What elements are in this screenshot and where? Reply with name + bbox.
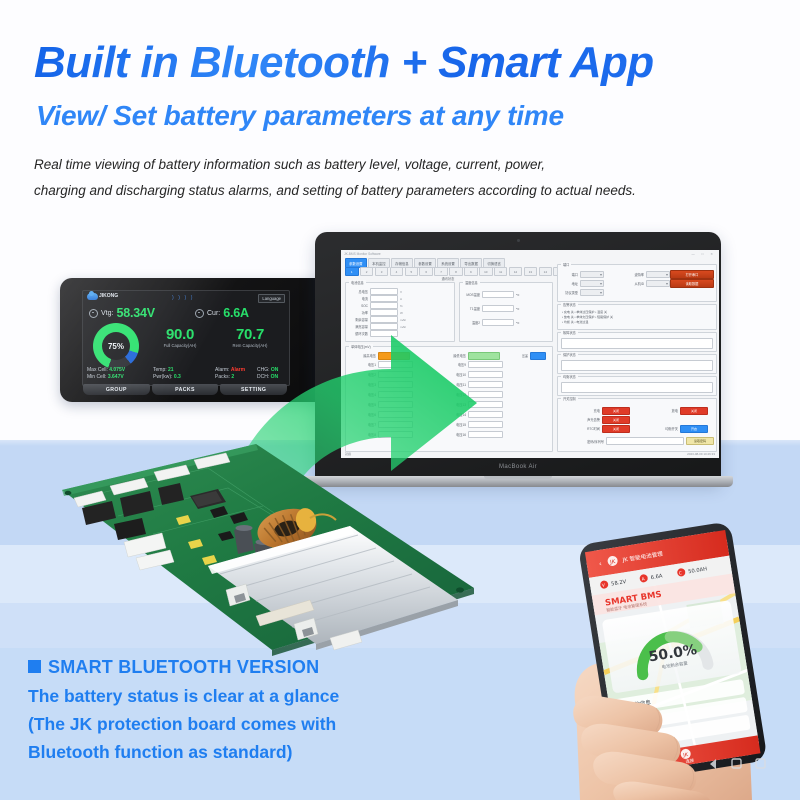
pack-button[interactable]: 9 — [464, 267, 478, 276]
field-unit: ℃ — [516, 307, 519, 311]
footer-line-1: The battery status is clear at a glance — [28, 686, 339, 707]
poster-root: Built in Bluetooth + Smart App View/ Set… — [0, 0, 800, 800]
window-controls[interactable]: — □ ✕ — [691, 252, 716, 256]
panel-control-title: 开关控制 — [561, 396, 578, 401]
pack-button[interactable]: 11 — [494, 267, 508, 276]
pack-button[interactable]: 13 — [524, 267, 538, 276]
charge-toggle[interactable]: 关闭 — [602, 407, 630, 415]
alarm-line: • 放电 关 • 单体欠压保护 • 短路保护 关 — [562, 315, 613, 319]
field-label: MOS温度 — [464, 292, 480, 297]
pack-button[interactable]: 6 — [419, 267, 433, 276]
panel-protect-title: 保护状态 — [561, 352, 578, 357]
balance-textarea[interactable] — [561, 382, 713, 393]
password-input[interactable] — [606, 437, 684, 445]
protocol-select[interactable] — [580, 289, 604, 296]
control-label: 放电 — [662, 408, 678, 413]
read-data-button[interactable]: 读取数据 — [670, 279, 714, 288]
field-unit: % — [400, 304, 403, 308]
panel-fault-title: 故障状态 — [561, 330, 578, 335]
pack-button[interactable]: 7 — [434, 267, 448, 276]
field-label: 波特率 — [628, 272, 644, 277]
field-unit: V — [400, 290, 402, 294]
panel-alarm-status: 告警状态 • 充电 关 • 单体过压保护 • 温度 关 • 放电 关 • 单体欠… — [557, 304, 717, 330]
field-label: 协议类型 — [562, 290, 578, 295]
field-input[interactable] — [482, 305, 514, 312]
panel-battery-title: 电池信息 — [349, 280, 366, 285]
statusbar-right: 2023-08-09 10:26:33 — [687, 452, 715, 456]
control-label: 声光告警 — [578, 417, 600, 422]
footer-line-2: (The JK protection board comes with — [28, 714, 336, 735]
pack-button[interactable]: 5 — [405, 267, 419, 276]
panel-port-settings: 端口 端口 波特率 地址 从机ID 协议类型 打开串口 读取数据 — [557, 264, 717, 302]
pack-button[interactable]: 8 — [449, 267, 463, 276]
baudrate-select[interactable] — [646, 271, 670, 278]
field-unit: A — [400, 297, 402, 301]
address-select[interactable] — [580, 280, 604, 287]
alarm-line: • 均衡 关 • 电池过温 — [562, 320, 588, 324]
panel-switch-control: 开关控制 充电关闭 放电关闭 声光告警关闭 RTC时间关闭 均衡开关开启 密码/… — [557, 398, 717, 452]
password-label: 密码/序列号 — [582, 439, 604, 444]
phone-in-hand: ‹ JK JK 智能电池管理 V 58.2V A 6.6A C 50.0AH S… — [560, 512, 800, 800]
footer-title: SMART BLUETOOTH VERSION — [48, 657, 319, 678]
control-label: RTC时间 — [578, 426, 600, 431]
description-line-2: charging and discharging status alarms, … — [34, 178, 754, 204]
alarm-toggle[interactable]: 关闭 — [602, 416, 630, 424]
field-label: 地址 — [562, 281, 578, 286]
pack-button[interactable]: 3 — [375, 267, 389, 276]
field-input[interactable] — [370, 316, 398, 323]
field-unit: ℃ — [516, 293, 519, 297]
bms-circuit-board — [58, 438, 478, 663]
field-label: 从机ID — [628, 281, 644, 286]
camera-icon — [517, 239, 520, 242]
field-input[interactable] — [482, 291, 514, 298]
field-input[interactable] — [370, 302, 398, 309]
open-port-button[interactable]: 打开串口 — [670, 270, 714, 279]
field-unit: mAh — [400, 318, 406, 322]
field-input[interactable] — [370, 295, 398, 302]
pack-button[interactable]: 14 — [539, 267, 553, 276]
field-label: SOC — [352, 304, 368, 308]
panel-fault-status: 故障状态 — [557, 332, 717, 352]
field-unit: W — [400, 311, 403, 315]
description-line-1: Real time viewing of battery information… — [34, 152, 754, 178]
pack-button[interactable]: 12 — [509, 267, 523, 276]
slaveid-select[interactable] — [646, 280, 670, 287]
diff-bar — [530, 352, 546, 360]
field-input[interactable] — [370, 288, 398, 295]
panel-protect-status: 保护状态 — [557, 354, 717, 374]
diff-label: 压差 — [522, 354, 528, 358]
discharge-toggle[interactable]: 关闭 — [680, 407, 708, 415]
field-unit: ℃ — [516, 321, 519, 325]
bullet-square-icon — [28, 660, 41, 673]
page-description: Real time viewing of battery information… — [34, 152, 754, 204]
field-label: 剩余容量 — [352, 317, 368, 322]
field-label: T1温度 — [464, 306, 480, 311]
field-label: 总电压 — [352, 289, 368, 294]
control-label: 充电 — [584, 408, 600, 413]
protect-textarea[interactable] — [561, 360, 713, 371]
pack-button[interactable]: 4 — [390, 267, 404, 276]
panel-balance-status: 均衡状态 — [557, 376, 717, 396]
pack-button[interactable]: 1 — [345, 267, 359, 276]
footer-line-3: Bluetooth function as standard) — [28, 742, 292, 763]
fault-textarea[interactable] — [561, 338, 713, 349]
pack-button[interactable]: 2 — [360, 267, 374, 276]
window-title: JK-BMS Monitor Software — [344, 252, 381, 256]
control-label: 均衡开关 — [656, 426, 678, 431]
field-label: 功率 — [352, 310, 368, 315]
rtc-toggle[interactable]: 关闭 — [602, 425, 630, 433]
page-subtitle: View/ Set battery parameters at any time — [36, 100, 766, 132]
field-label: 端口 — [562, 272, 578, 277]
pack-selector-bar: 1 2 3 4 5 6 7 8 9 10 11 12 13 14 — [345, 267, 582, 276]
pack-button[interactable]: 10 — [479, 267, 493, 276]
field-label: 电流 — [352, 296, 368, 301]
port-select[interactable] — [580, 271, 604, 278]
read-password-button[interactable]: 读取密码 — [686, 437, 714, 445]
page-title: Built in Bluetooth + Smart App — [34, 36, 764, 90]
panel-state-title: 告警状态 — [561, 302, 578, 307]
balance-toggle[interactable]: 开启 — [680, 425, 708, 433]
field-input[interactable] — [370, 309, 398, 316]
panel-temp-title: 温度信息 — [463, 280, 480, 285]
panel-port-title: 端口 — [561, 262, 571, 267]
pack-caption: 通讯状态 — [345, 276, 551, 281]
panel-balance-title: 均衡状态 — [561, 374, 578, 379]
alarm-line: • 充电 关 • 单体过压保护 • 温度 关 — [562, 310, 607, 314]
